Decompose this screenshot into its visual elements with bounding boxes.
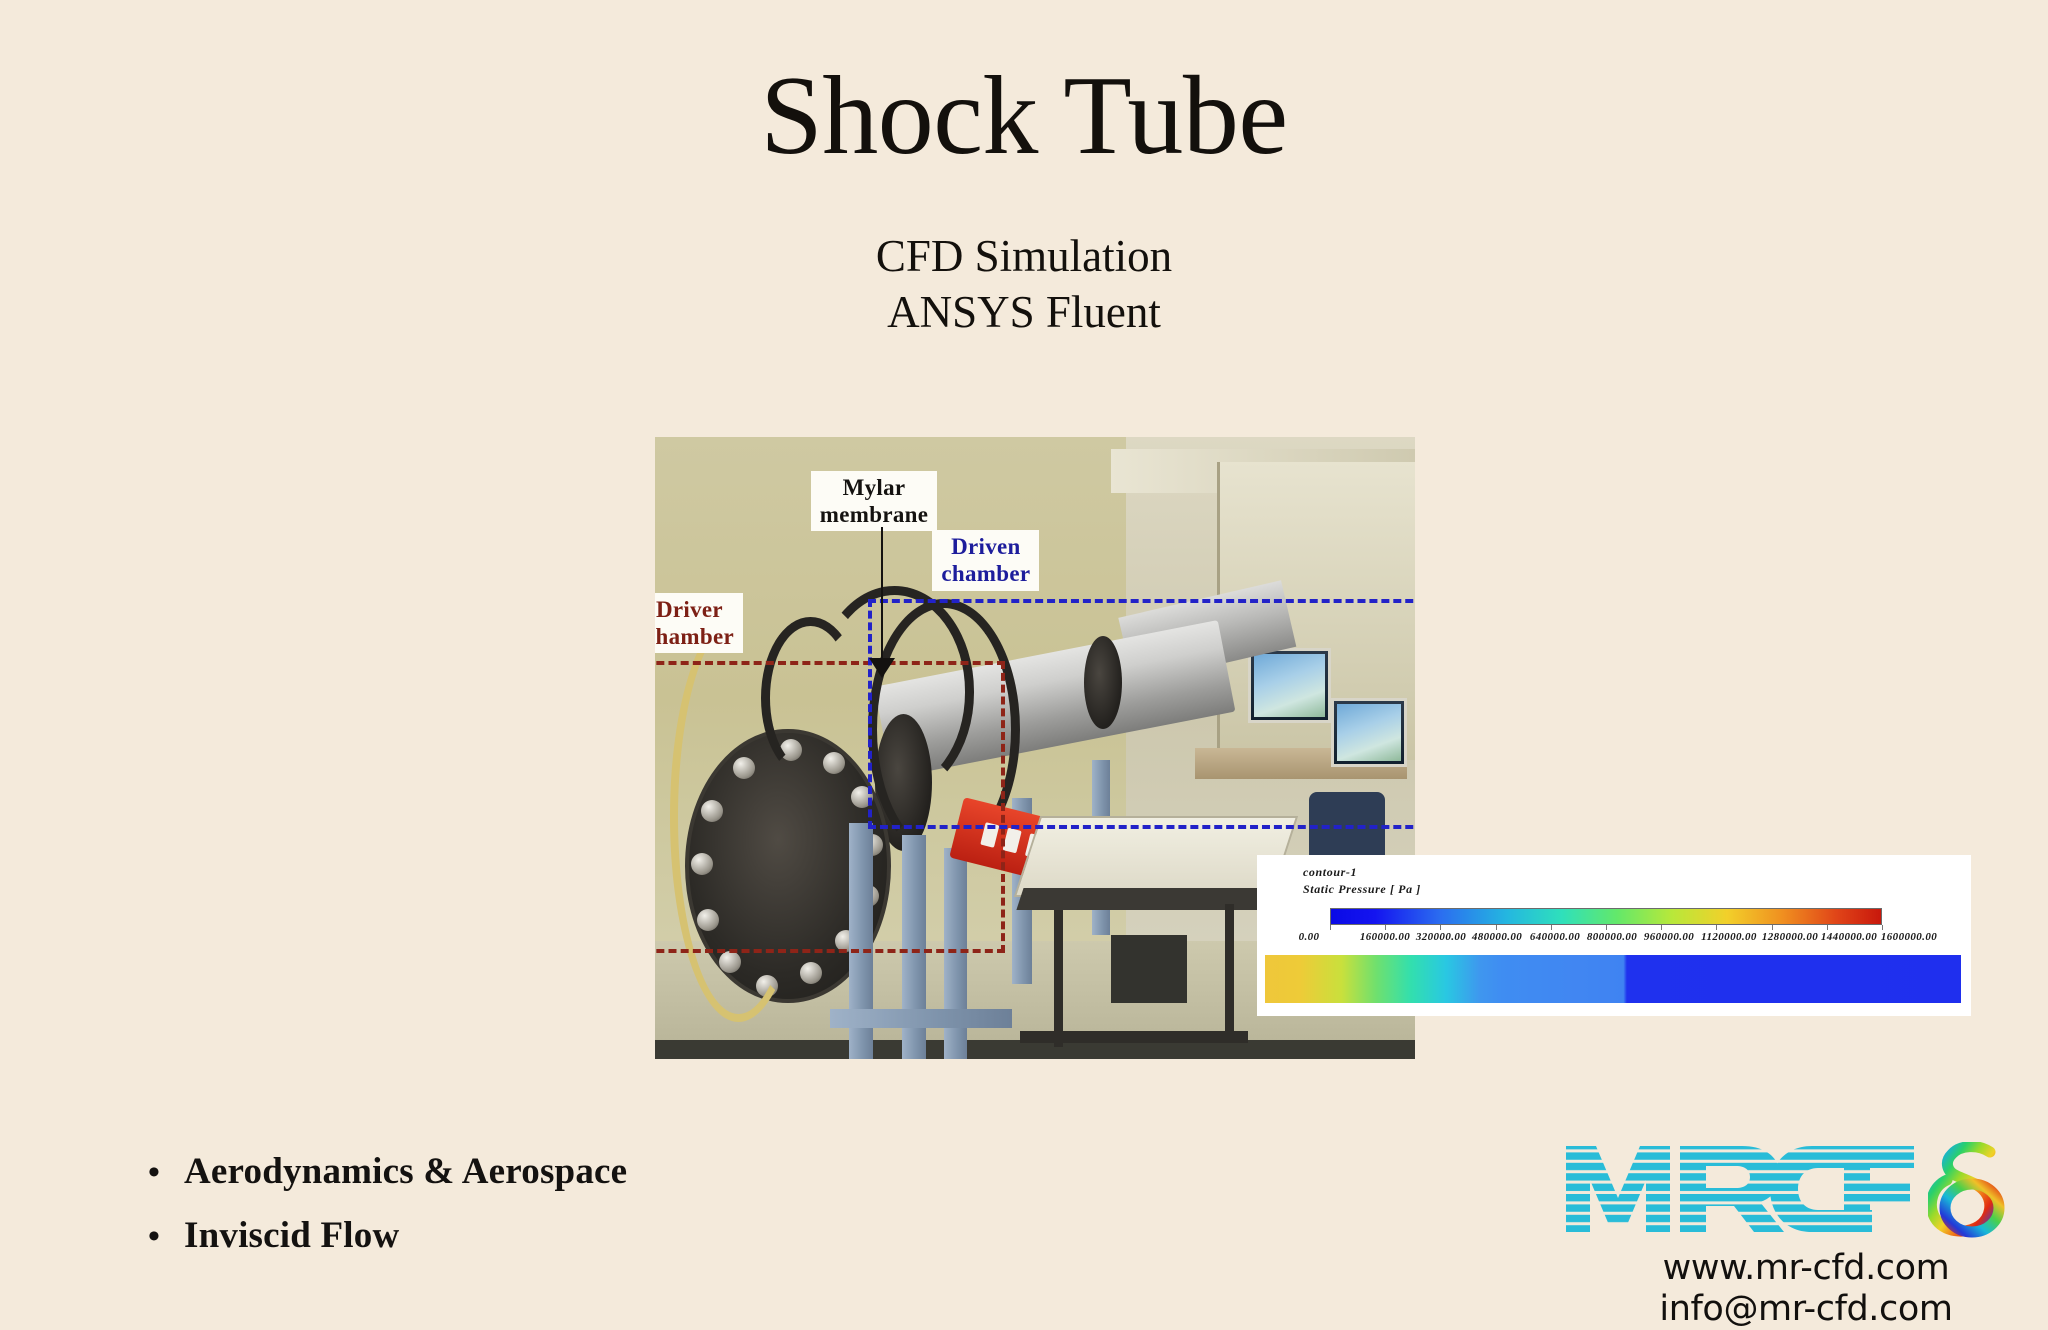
- tick-label-0: 0.00: [1299, 931, 1320, 943]
- callout-mylar-membrane: Mylar membrane: [811, 471, 937, 531]
- tick-label-6: 960000.00: [1644, 931, 1694, 943]
- support-rail: [830, 1009, 1012, 1028]
- bullet-label-aerodynamics: Aerodynamics & Aerospace: [184, 1148, 627, 1196]
- pressure-colorbar: [1330, 908, 1882, 925]
- logo-mark-row: [1562, 1142, 2032, 1242]
- callout-driver-chamber: Driver chamber: [655, 593, 743, 653]
- contour-title: contour-1 Static Pressure [ Pa ]: [1303, 864, 1421, 899]
- tick-label-2: 320000.00: [1416, 931, 1466, 943]
- pressure-contour-field: [1265, 955, 1961, 1003]
- contour-legend-panel: contour-1 Static Pressure [ Pa ] 0.00 16…: [1257, 855, 1971, 1016]
- subtitle-line-1: CFD Simulation: [0, 228, 2048, 284]
- tick-label-1: 160000.00: [1360, 931, 1410, 943]
- tick-label-9: 1440000.00: [1821, 931, 1877, 943]
- mr-cfd-logo: www.mr-cfd.com info@mr-cfd.com: [1562, 1142, 2032, 1324]
- tick-label-4: 640000.00: [1530, 931, 1580, 943]
- logo-email[interactable]: info@mr-cfd.com: [1580, 1289, 2032, 1330]
- colorbar-tick-marks: [1330, 925, 1882, 930]
- slide-root: Shock Tube CFD Simulation ANSYS Fluent: [0, 0, 2048, 1330]
- callout-driven-chamber: Driven chamber: [932, 530, 1039, 590]
- dark-panel: [1111, 935, 1187, 1003]
- bench-leg-a: [1054, 910, 1063, 1047]
- bullet-marker-icon: •: [148, 1156, 184, 1190]
- mr-cfd-wordmark-icon: [1562, 1142, 1918, 1236]
- mylar-arrow-head-icon: [869, 658, 895, 678]
- subtitle-group: CFD Simulation ANSYS Fluent: [0, 228, 2048, 341]
- tick-label-3: 480000.00: [1472, 931, 1522, 943]
- bullet-list: • Aerodynamics & Aerospace • Inviscid Fl…: [148, 1148, 627, 1276]
- subtitle-line-2: ANSYS Fluent: [0, 284, 2048, 340]
- colorbar-tick-labels: 0.00 160000.00 320000.00 480000.00 64000…: [1257, 931, 1971, 949]
- logo-website[interactable]: www.mr-cfd.com: [1580, 1248, 2032, 1289]
- bench-foot: [1020, 1031, 1248, 1043]
- bullet-marker-icon: •: [148, 1220, 184, 1254]
- cfd-delta-glyph-icon: [1928, 1142, 2020, 1238]
- tick-label-5: 800000.00: [1587, 931, 1637, 943]
- logo-contact-block: www.mr-cfd.com info@mr-cfd.com: [1562, 1248, 2032, 1329]
- page-title: Shock Tube: [0, 58, 2048, 176]
- tick-label-8: 1280000.00: [1762, 931, 1818, 943]
- list-item: • Aerodynamics & Aerospace: [148, 1148, 627, 1196]
- bullet-label-inviscid-flow: Inviscid Flow: [184, 1212, 399, 1260]
- tick-label-7: 1120000.00: [1701, 931, 1757, 943]
- tick-label-10: 1600000.00: [1881, 931, 1937, 943]
- white-bench-edge: [1016, 888, 1289, 910]
- bench-leg-b: [1225, 904, 1234, 1041]
- mylar-arrow-stem: [881, 527, 883, 664]
- driven-chamber-region: [868, 599, 1415, 829]
- list-item: • Inviscid Flow: [148, 1212, 627, 1260]
